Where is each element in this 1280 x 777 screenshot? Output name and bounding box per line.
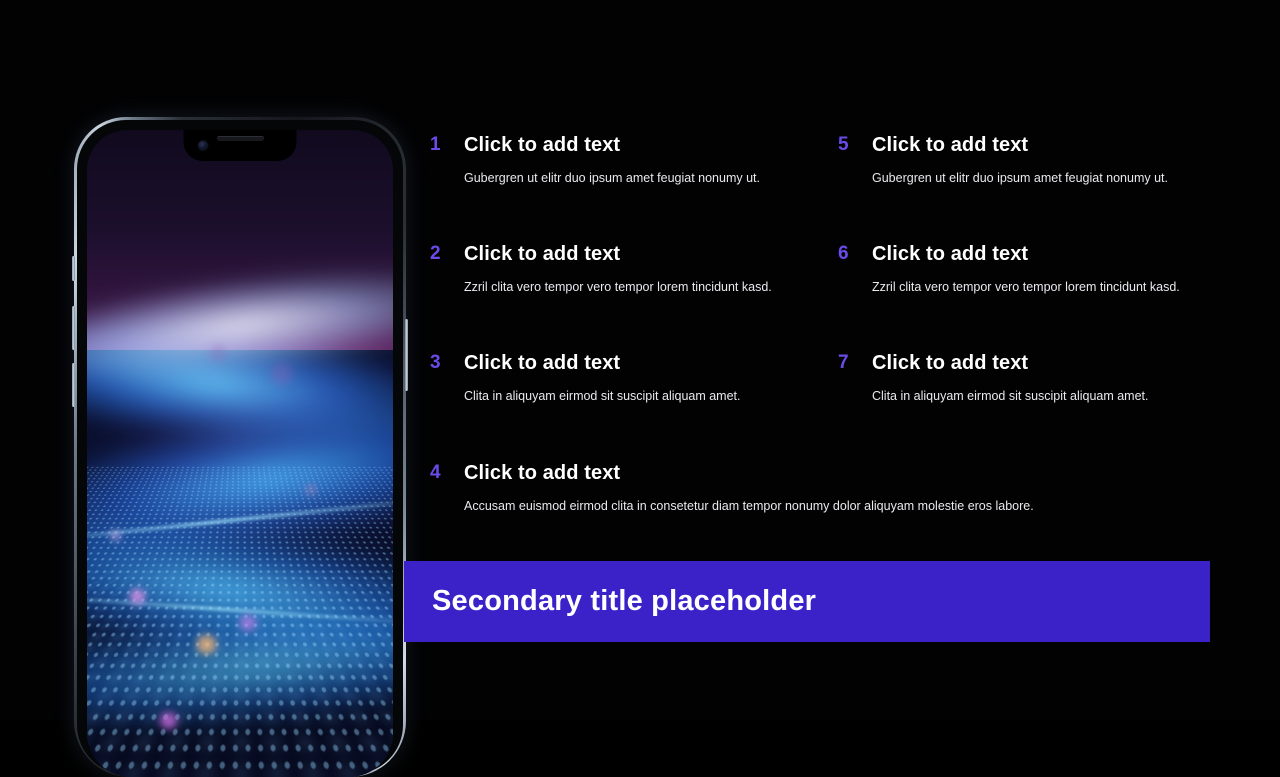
bullet-number: 1 bbox=[430, 132, 464, 158]
bullet-body: Click to add text Clita in aliquyam eirm… bbox=[872, 350, 1149, 405]
bullet-description[interactable]: Clita in aliquyam eirmod sit suscipit al… bbox=[464, 388, 741, 405]
bullet-description[interactable]: Clita in aliquyam eirmod sit suscipit al… bbox=[872, 388, 1149, 405]
secondary-title-text[interactable]: Secondary title placeholder bbox=[432, 585, 816, 618]
secondary-title-banner[interactable]: Secondary title placeholder bbox=[404, 561, 1210, 642]
phone-wallpaper bbox=[87, 130, 393, 777]
bullet-title[interactable]: Click to add text bbox=[464, 460, 1034, 486]
bullet-body: Click to add text Clita in aliquyam eirm… bbox=[464, 350, 741, 405]
phone-notch bbox=[184, 130, 297, 161]
slide-canvas: 1 Click to add text Gubergren ut elitr d… bbox=[0, 0, 1280, 720]
bullet-title[interactable]: Click to add text bbox=[872, 132, 1168, 158]
bullet-description[interactable]: Zzril clita vero tempor vero tempor lore… bbox=[872, 279, 1180, 296]
bullet-title[interactable]: Click to add text bbox=[872, 350, 1149, 376]
bullet-description[interactable]: Gubergren ut elitr duo ipsum amet feugia… bbox=[464, 170, 760, 187]
bullet-body: Click to add text Gubergren ut elitr duo… bbox=[872, 132, 1168, 187]
wallpaper-bokeh-8 bbox=[209, 344, 227, 362]
wallpaper-bokeh-7 bbox=[271, 363, 293, 385]
bullet-number: 2 bbox=[430, 241, 464, 267]
bullet-item-2[interactable]: 2 Click to add text Zzril clita vero tem… bbox=[430, 241, 772, 296]
bullet-number: 5 bbox=[838, 132, 872, 158]
bullet-body: Click to add text Zzril clita vero tempo… bbox=[464, 241, 772, 296]
bullet-description[interactable]: Zzril clita vero tempor vero tempor lore… bbox=[464, 279, 772, 296]
bullet-title[interactable]: Click to add text bbox=[464, 350, 741, 376]
bullet-body: Click to add text Zzril clita vero tempo… bbox=[872, 241, 1180, 296]
front-camera-icon bbox=[199, 141, 208, 150]
bullet-description[interactable]: Gubergren ut elitr duo ipsum amet feugia… bbox=[872, 170, 1168, 187]
volume-up-button[interactable] bbox=[72, 306, 75, 350]
bullet-list-area: 1 Click to add text Gubergren ut elitr d… bbox=[404, 118, 1210, 548]
bullet-body: Click to add text Gubergren ut elitr duo… bbox=[464, 132, 760, 187]
bullet-item-3[interactable]: 3 Click to add text Clita in aliquyam ei… bbox=[430, 350, 741, 405]
bullet-item-7[interactable]: 7 Click to add text Clita in aliquyam ei… bbox=[838, 350, 1149, 405]
bullet-title[interactable]: Click to add text bbox=[464, 241, 772, 267]
bullet-number: 6 bbox=[838, 241, 872, 267]
bullet-item-6[interactable]: 6 Click to add text Zzril clita vero tem… bbox=[838, 241, 1180, 296]
bullet-body: Click to add text Accusam euismod eirmod… bbox=[464, 460, 1034, 515]
wallpaper-bokeh-2 bbox=[197, 635, 216, 654]
volume-down-button[interactable] bbox=[72, 363, 75, 407]
bullet-item-5[interactable]: 5 Click to add text Gubergren ut elitr d… bbox=[838, 132, 1168, 187]
bullet-title[interactable]: Click to add text bbox=[872, 241, 1180, 267]
bullet-number: 7 bbox=[838, 350, 872, 376]
earpiece-speaker-icon bbox=[217, 136, 264, 141]
bullet-item-4[interactable]: 4 Click to add text Accusam euismod eirm… bbox=[430, 460, 1034, 515]
bullet-number: 4 bbox=[430, 460, 464, 486]
smartphone-mockup bbox=[74, 117, 406, 777]
bullet-description[interactable]: Accusam euismod eirmod clita in consetet… bbox=[464, 498, 1034, 515]
bullet-item-1[interactable]: 1 Click to add text Gubergren ut elitr d… bbox=[430, 132, 760, 187]
phone-screen bbox=[87, 130, 393, 777]
silent-switch-icon[interactable] bbox=[72, 256, 75, 281]
bullet-number: 3 bbox=[430, 350, 464, 376]
bullet-title[interactable]: Click to add text bbox=[464, 132, 760, 158]
